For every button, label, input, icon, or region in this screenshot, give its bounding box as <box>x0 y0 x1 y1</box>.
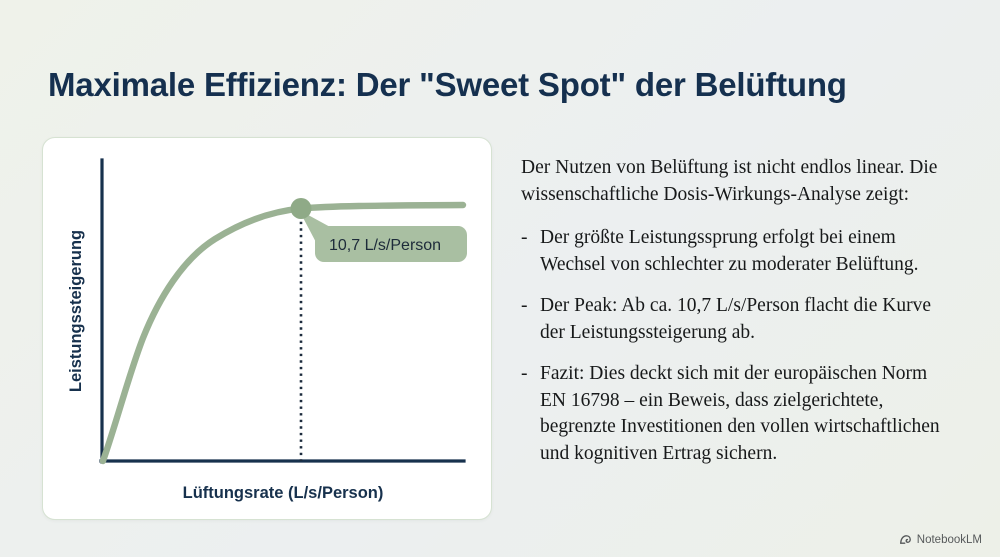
bullet-marker: - <box>521 293 528 320</box>
notebooklm-spiral-icon <box>899 533 912 546</box>
list-item: - Der Peak: Ab ca. 10,7 L/s/Person flach… <box>521 293 953 346</box>
list-item-text: Fazit: Dies deckt sich mit der europäisc… <box>540 363 940 464</box>
explanation-panel: Der Nutzen von Belüftung ist nicht endlo… <box>521 155 953 467</box>
bullet-marker: - <box>521 225 528 252</box>
chart-card: 10,7 L/s/Person Leistungssteigerung Lüft… <box>42 137 492 520</box>
notebooklm-watermark: NotebookLM <box>899 533 982 546</box>
list-item-text: Der Peak: Ab ca. 10,7 L/s/Person flacht … <box>540 295 931 343</box>
chart-figure: 10,7 L/s/Person Leistungssteigerung Lüft… <box>43 138 491 519</box>
bullet-marker: - <box>521 361 528 388</box>
notebooklm-label: NotebookLM <box>917 534 982 546</box>
list-item-text: Der größte Leistungssprung erfolgt bei e… <box>540 227 919 275</box>
list-item: - Der größte Leistungssprung erfolgt bei… <box>521 225 953 278</box>
y-axis-label: Leistungssteigerung <box>67 230 85 392</box>
bullet-list: - Der größte Leistungssprung erfolgt bei… <box>521 225 953 467</box>
slide-canvas: Maximale Effizienz: Der "Sweet Spot" der… <box>0 0 1000 557</box>
callout-label: 10,7 L/s/Person <box>329 237 441 254</box>
page-title: Maximale Effizienz: Der "Sweet Spot" der… <box>48 66 948 104</box>
list-item: - Fazit: Dies deckt sich mit der europäi… <box>521 361 953 467</box>
x-axis-label: Lüftungsrate (L/s/Person) <box>183 484 384 502</box>
sweet-spot-marker <box>291 198 312 219</box>
intro-paragraph: Der Nutzen von Belüftung ist nicht endlo… <box>521 155 953 208</box>
sweet-spot-callout: 10,7 L/s/Person <box>299 210 467 262</box>
